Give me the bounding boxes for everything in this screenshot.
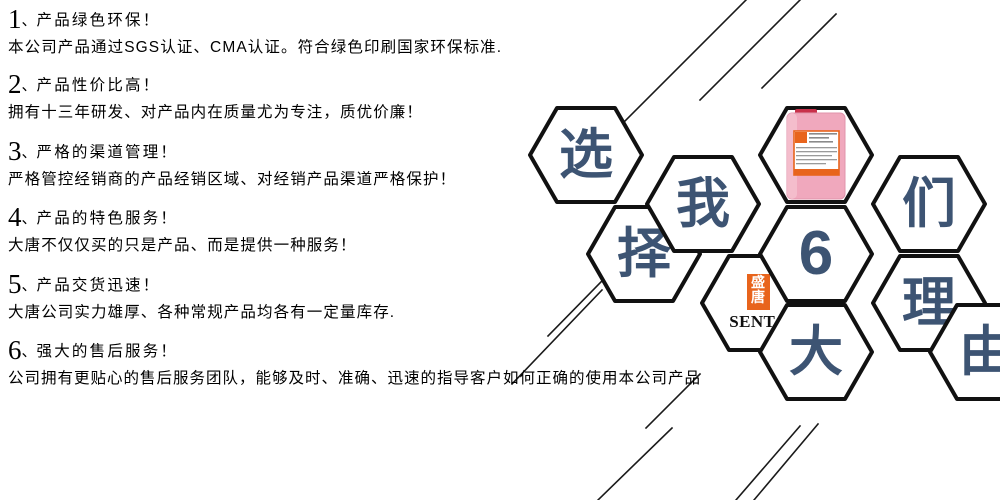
logo-brand-text: SENTA <box>729 312 786 332</box>
hexagon-men: 们 <box>871 155 987 253</box>
feature-number: 1 <box>8 4 22 34</box>
feature-heading: 2、产品性价比高！ <box>8 71 708 98</box>
feature-description: 公司拥有更贴心的售后服务团队，能够及时、准确、迅速的指导客户如何正确的使用本公司… <box>8 369 708 388</box>
feature-item-3: 3、严格的渠道管理！ 严格管控经销商的产品经销区域、对经销产品渠道严格保护！ <box>8 138 708 189</box>
jerrycan-icon <box>781 109 851 201</box>
logo-char-tang: 唐 <box>748 292 769 306</box>
feature-item-6: 6、强大的售后服务！ 公司拥有更贴心的售后服务团队，能够及时、准确、迅速的指导客… <box>8 337 708 388</box>
feature-item-5: 5、产品交货迅速！ 大唐公司实力雄厚、各种常规产品均各有一定量库存. <box>8 271 708 322</box>
logo-char-sheng: 盛 <box>748 277 769 291</box>
diagonal-line <box>700 0 806 100</box>
hexagon-outline <box>871 155 987 253</box>
hexagon-outline <box>928 303 1000 401</box>
promo-page: 1、产品绿色环保！ 本公司产品通过SGS认证、CMA认证。符合绿色印刷国家环保标… <box>0 0 1000 500</box>
diagonal-line <box>754 424 818 500</box>
feature-item-4: 4、产品的特色服务！ 大唐不仅仅买的只是产品、而是提供一种服务！ <box>8 204 708 255</box>
hexagon-outline <box>758 205 874 303</box>
hexagon-da: 大 <box>758 303 874 401</box>
senta-logo: 盛 唐 SENTA <box>700 254 816 352</box>
hexagon-outline <box>758 303 874 401</box>
hexagon-six: 6 <box>758 205 874 303</box>
feature-description: 大唐公司实力雄厚、各种常规产品均各有一定量库存. <box>8 303 708 322</box>
hexagon-label: 由 <box>928 303 1000 401</box>
feature-heading: 1、产品绿色环保！ <box>8 6 708 33</box>
feature-separator: 、 <box>22 77 37 94</box>
feature-separator: 、 <box>22 277 37 294</box>
feature-number: 5 <box>8 269 22 299</box>
feature-title: 严格的渠道管理！ <box>37 144 179 161</box>
feature-separator: 、 <box>22 210 37 227</box>
feature-heading: 6、强大的售后服务！ <box>8 337 708 364</box>
feature-item-1: 1、产品绿色环保！ 本公司产品通过SGS认证、CMA认证。符合绿色印刷国家环保标… <box>8 6 708 57</box>
feature-list: 1、产品绿色环保！ 本公司产品通过SGS认证、CMA认证。符合绿色印刷国家环保标… <box>8 6 708 388</box>
feature-title: 产品绿色环保！ <box>37 12 161 29</box>
feature-number: 6 <box>8 335 22 365</box>
hexagon-label: 们 <box>871 155 987 253</box>
feature-description: 本公司产品通过SGS认证、CMA认证。符合绿色印刷国家环保标准. <box>8 38 708 57</box>
hexagon-outline <box>758 106 874 204</box>
diagonal-line <box>762 14 836 88</box>
hexagon-label: 6 <box>758 205 874 303</box>
hexagon-outline <box>871 254 987 352</box>
hexagon-logo: 盛 唐 SENTA <box>700 254 816 352</box>
hexagon-label: 理 <box>871 254 987 352</box>
hexagon-outline <box>700 254 816 352</box>
feature-title: 产品性价比高！ <box>37 77 161 94</box>
hexagon-label: 大 <box>758 303 874 401</box>
feature-number: 3 <box>8 136 22 166</box>
feature-separator: 、 <box>22 12 37 29</box>
diagonal-line <box>736 426 800 500</box>
feature-separator: 、 <box>22 343 37 360</box>
feature-title: 产品的特色服务！ <box>37 210 179 227</box>
feature-item-2: 2、产品性价比高！ 拥有十三年研发、对产品内在质量尤为专注，质优价廉！ <box>8 71 708 122</box>
feature-separator: 、 <box>22 144 37 161</box>
feature-title: 产品交货迅速！ <box>37 277 161 294</box>
feature-heading: 5、产品交货迅速！ <box>8 271 708 298</box>
feature-description: 严格管控经销商的产品经销区域、对经销产品渠道严格保护！ <box>8 170 708 189</box>
logo-mark-characters: 盛 唐 <box>747 274 770 310</box>
feature-heading: 3、严格的渠道管理！ <box>8 138 708 165</box>
feature-title: 强大的售后服务！ <box>37 343 179 360</box>
feature-description: 拥有十三年研发、对产品内在质量尤为专注，质优价廉！ <box>8 103 708 122</box>
hexagon-product <box>758 106 874 204</box>
hexagon-you: 由 <box>928 303 1000 401</box>
feature-description: 大唐不仅仅买的只是产品、而是提供一种服务！ <box>8 236 708 255</box>
hexagon-li: 理 <box>871 254 987 352</box>
feature-heading: 4、产品的特色服务！ <box>8 204 708 231</box>
product-jerrycan-image <box>758 106 874 204</box>
feature-number: 2 <box>8 69 22 99</box>
feature-number: 4 <box>8 202 22 232</box>
diagonal-line <box>598 428 672 500</box>
